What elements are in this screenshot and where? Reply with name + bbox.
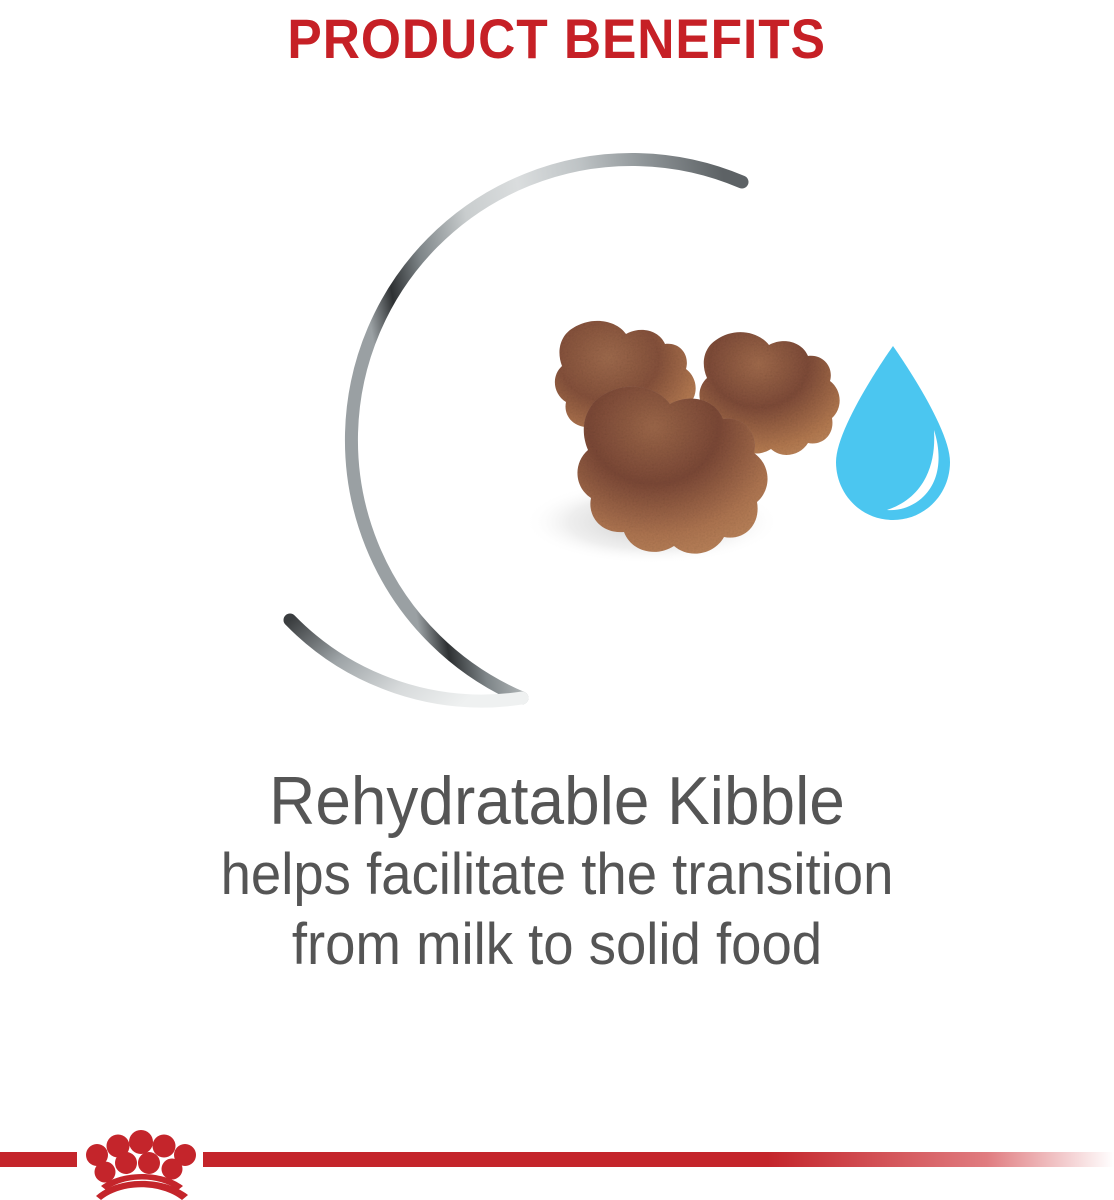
benefit-line-2: helps facilitate the transition [33,840,1080,910]
footer-brand-bar [0,1120,1114,1200]
water-drop-icon [836,346,950,520]
footer-rule-right [203,1152,1114,1167]
kibble-pieces-icon [555,321,840,554]
page-header: PRODUCT BENEFITS [0,0,1114,78]
benefit-line-3: from milk to solid food [33,910,1080,980]
benefit-caption: Rehydratable Kibble helps facilitate the… [0,762,1114,980]
hero-graphic [0,150,1114,750]
hero-illustration [0,150,1114,750]
page-title: PRODUCT BENEFITS [288,11,827,67]
footer-graphic [0,1120,1114,1200]
royal-canin-crown-logo-icon [86,1130,196,1200]
footer-rule-left [0,1152,77,1167]
benefit-headline: Rehydratable Kibble [33,762,1080,840]
